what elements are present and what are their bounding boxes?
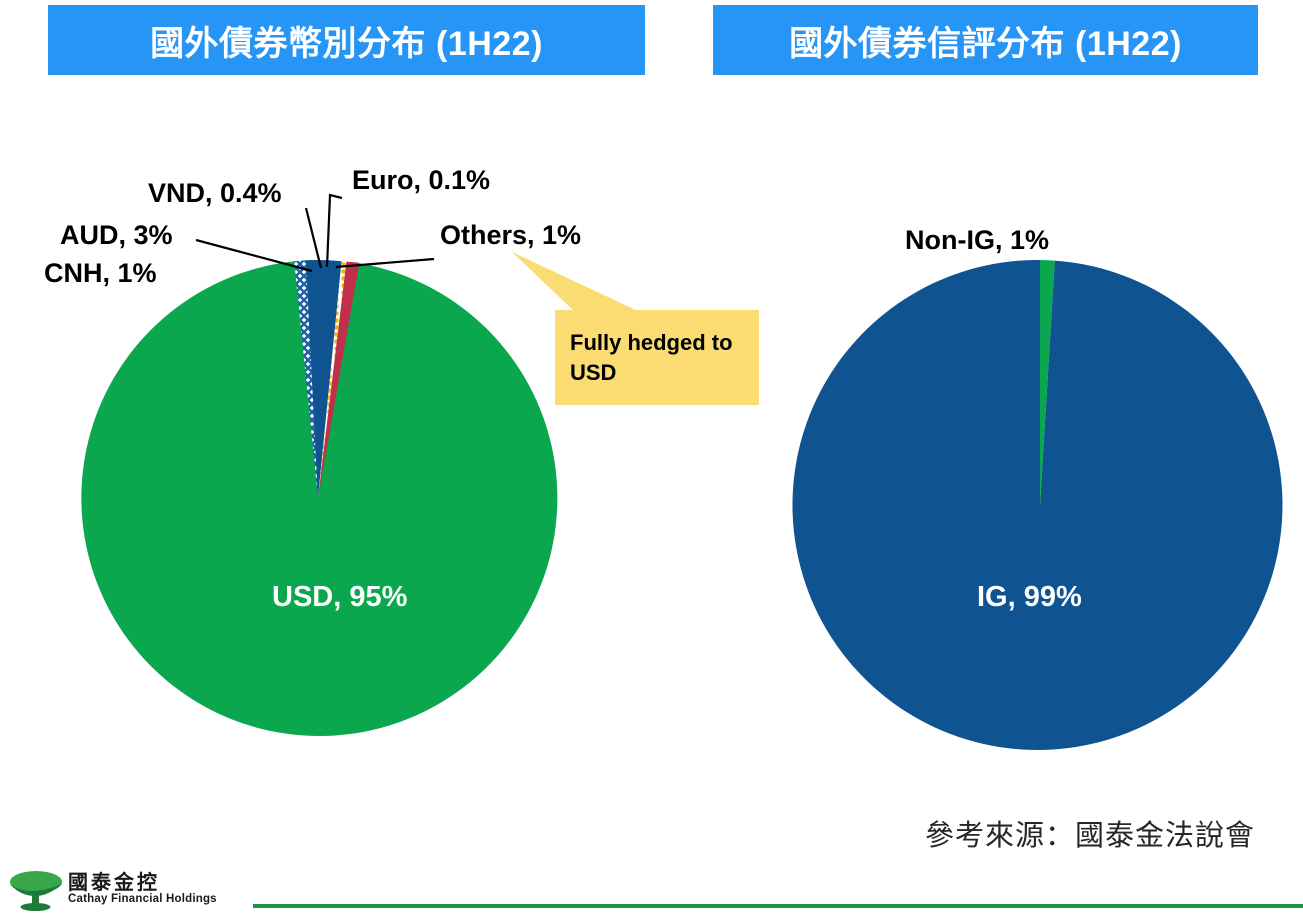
pie-label-cnh: CNH, 1% bbox=[44, 258, 157, 289]
hedging-callout-text: Fully hedged to USD bbox=[570, 328, 750, 387]
pie-label-others: Others, 1% bbox=[440, 220, 581, 251]
logo-english-name: Cathay Financial Holdings bbox=[68, 893, 217, 905]
source-note: 參考來源：國泰金法說會 bbox=[925, 812, 1255, 854]
currency-distribution-pie-chart bbox=[60, 240, 580, 760]
pie-label-vnd: VND, 0.4% bbox=[148, 178, 282, 209]
hedging-callout: Fully hedged to USD bbox=[555, 310, 759, 405]
pie-label-aud: AUD, 3% bbox=[60, 220, 173, 251]
cathay-logo: 國泰金控 Cathay Financial Holdings bbox=[8, 866, 248, 918]
right-chart-title-text: 國外債券信評分布 (1H22) bbox=[789, 16, 1182, 65]
pie-slice-ig bbox=[792, 260, 1282, 750]
pie-label-non-ig: Non-IG, 1% bbox=[905, 225, 1049, 256]
left-chart-title: 國外債券幣別分布 (1H22) bbox=[48, 5, 645, 75]
tree-icon bbox=[8, 868, 64, 912]
credit-rating-pie-svg bbox=[780, 240, 1300, 770]
credit-rating-distribution-pie-chart bbox=[780, 240, 1300, 770]
logo-chinese-name: 國泰金控 bbox=[68, 866, 160, 895]
pie-label-ig: IG, 99% bbox=[977, 581, 1082, 614]
pie-label-euro: Euro, 0.1% bbox=[352, 165, 490, 196]
left-chart-title-text: 國外債券幣別分布 (1H22) bbox=[150, 16, 543, 65]
pie-label-usd: USD, 95% bbox=[272, 581, 407, 614]
right-chart-title: 國外債券信評分布 (1H22) bbox=[713, 5, 1258, 75]
currency-pie-svg bbox=[60, 240, 580, 760]
footer-divider bbox=[253, 904, 1303, 908]
